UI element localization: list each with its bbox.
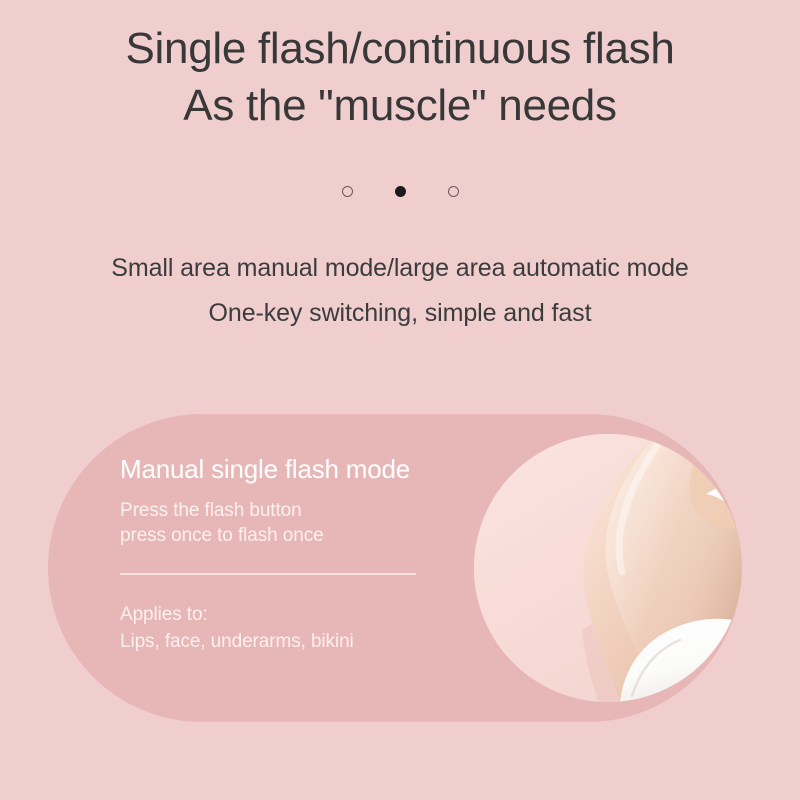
subtitle-line-1: Small area manual mode/large area automa…	[0, 246, 800, 291]
applies-to-value: Lips, face, underarms, bikini	[120, 628, 450, 656]
subtitle-line-2: One-key switching, simple and fast	[0, 291, 800, 336]
carousel-dot-1[interactable]	[342, 186, 353, 197]
feature-card: Manual single flash mode Press the flash…	[48, 414, 742, 722]
applies-to-section: Applies to: Lips, face, underarms, bikin…	[120, 601, 450, 656]
carousel-dot-2-active[interactable]	[395, 186, 406, 197]
headline-line-1: Single flash/continuous flash	[0, 20, 800, 77]
card-title: Manual single flash mode	[120, 454, 450, 485]
card-divider	[120, 573, 416, 575]
page-title: Single flash/continuous flash As the "mu…	[0, 20, 800, 134]
card-description-line-1: Press the flash button	[120, 499, 450, 524]
card-description: Press the flash button press once to fla…	[120, 499, 450, 548]
headline-line-2: As the "muscle" needs	[0, 77, 800, 134]
applies-to-label: Applies to:	[120, 601, 450, 629]
page-subtitle: Small area manual mode/large area automa…	[0, 246, 800, 336]
carousel-dots	[0, 186, 800, 197]
card-description-line-2: press once to flash once	[120, 524, 450, 549]
underarm-photo	[474, 434, 742, 702]
carousel-dot-3[interactable]	[448, 186, 459, 197]
card-content: Manual single flash mode Press the flash…	[120, 454, 450, 656]
